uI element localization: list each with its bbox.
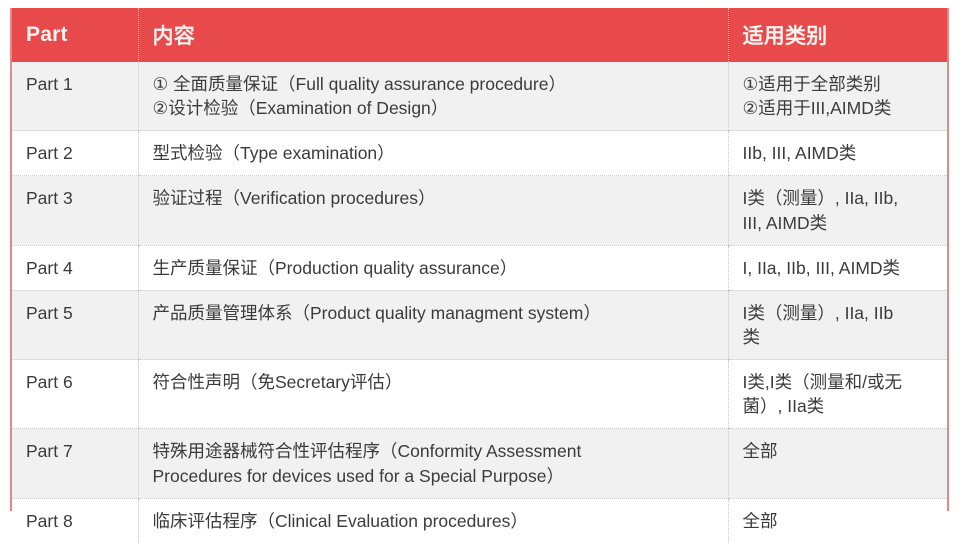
category-line: 全部 [743,509,940,533]
category-line: I类（测量）, IIa, IIb, [743,186,940,210]
category-line: IIb, III, AIMD类 [743,141,940,165]
cell-content: 型式检验（Type examination） [138,131,728,176]
cell-category: ①适用于全部类别 ②适用于III,AIMD类 [728,62,947,131]
cell-content: 验证过程（Verification procedures） [138,176,728,245]
cell-category: IIb, III, AIMD类 [728,131,947,176]
cell-category: 全部 [728,498,947,543]
table-row: Part 6 符合性声明（免Secretary评估） I类,I类（测量和/或无 … [12,360,947,429]
cell-category: I, IIa, IIb, III, AIMD类 [728,245,947,290]
cell-category: I类（测量）, IIa, IIb, III, AIMD类 [728,176,947,245]
cell-part: Part 8 [12,498,138,543]
cell-content: ① 全面质量保证（Full quality assurance procedur… [138,62,728,131]
content-line: Procedures for devices used for a Specia… [153,464,720,488]
content-line: 符合性声明（免Secretary评估） [153,370,720,394]
cell-content: 特殊用途器械符合性评估程序（Conformity Assessment Proc… [138,429,728,498]
table-header-row: Part 内容 适用类别 [12,8,947,62]
conformity-assessment-table: Part 内容 适用类别 Part 1 ① 全面质量保证（Full qualit… [12,8,947,543]
category-line: ②适用于III,AIMD类 [743,96,940,120]
conformity-assessment-table-container: Part 内容 适用类别 Part 1 ① 全面质量保证（Full qualit… [10,8,949,511]
content-line: 型式检验（Type examination） [153,141,720,165]
column-header-part: Part [12,8,138,62]
table-row: Part 7 特殊用途器械符合性评估程序（Conformity Assessme… [12,429,947,498]
cell-content: 临床评估程序（Clinical Evaluation procedures） [138,498,728,543]
table-body: Part 1 ① 全面质量保证（Full quality assurance p… [12,62,947,543]
category-line: I, IIa, IIb, III, AIMD类 [743,256,940,280]
column-header-category: 适用类别 [728,8,947,62]
category-line: III, AIMD类 [743,211,940,235]
table-row: Part 1 ① 全面质量保证（Full quality assurance p… [12,62,947,131]
content-line: ① 全面质量保证（Full quality assurance procedur… [153,72,720,96]
cell-part: Part 6 [12,360,138,429]
category-line: 菌）, IIa类 [743,394,940,418]
cell-part: Part 2 [12,131,138,176]
content-line: 生产质量保证（Production quality assurance） [153,256,720,280]
table-row: Part 2 型式检验（Type examination） IIb, III, … [12,131,947,176]
cell-content: 符合性声明（免Secretary评估） [138,360,728,429]
cell-part: Part 4 [12,245,138,290]
category-line: I类（测量）, IIa, IIb [743,301,940,325]
column-header-content: 内容 [138,8,728,62]
cell-category: 全部 [728,429,947,498]
content-line: 临床评估程序（Clinical Evaluation procedures） [153,509,720,533]
cell-part: Part 5 [12,290,138,359]
table-row: Part 8 临床评估程序（Clinical Evaluation proced… [12,498,947,543]
category-line: I类,I类（测量和/或无 [743,370,940,394]
cell-part: Part 7 [12,429,138,498]
cell-part: Part 1 [12,62,138,131]
cell-content: 生产质量保证（Production quality assurance） [138,245,728,290]
cell-category: I类,I类（测量和/或无 菌）, IIa类 [728,360,947,429]
cell-part: Part 3 [12,176,138,245]
content-line: 产品质量管理体系（Product quality managment syste… [153,301,720,325]
cell-category: I类（测量）, IIa, IIb 类 [728,290,947,359]
category-line: 类 [743,325,940,349]
content-line: 验证过程（Verification procedures） [153,186,720,210]
cell-content: 产品质量管理体系（Product quality managment syste… [138,290,728,359]
table-row: Part 4 生产质量保证（Production quality assuran… [12,245,947,290]
table-row: Part 5 产品质量管理体系（Product quality managmen… [12,290,947,359]
category-line: 全部 [743,439,940,463]
content-line: ②设计检验（Examination of Design） [153,96,720,120]
table-row: Part 3 验证过程（Verification procedures） I类（… [12,176,947,245]
table-header: Part 内容 适用类别 [12,8,947,62]
content-line: 特殊用途器械符合性评估程序（Conformity Assessment [153,439,720,463]
category-line: ①适用于全部类别 [743,72,940,96]
